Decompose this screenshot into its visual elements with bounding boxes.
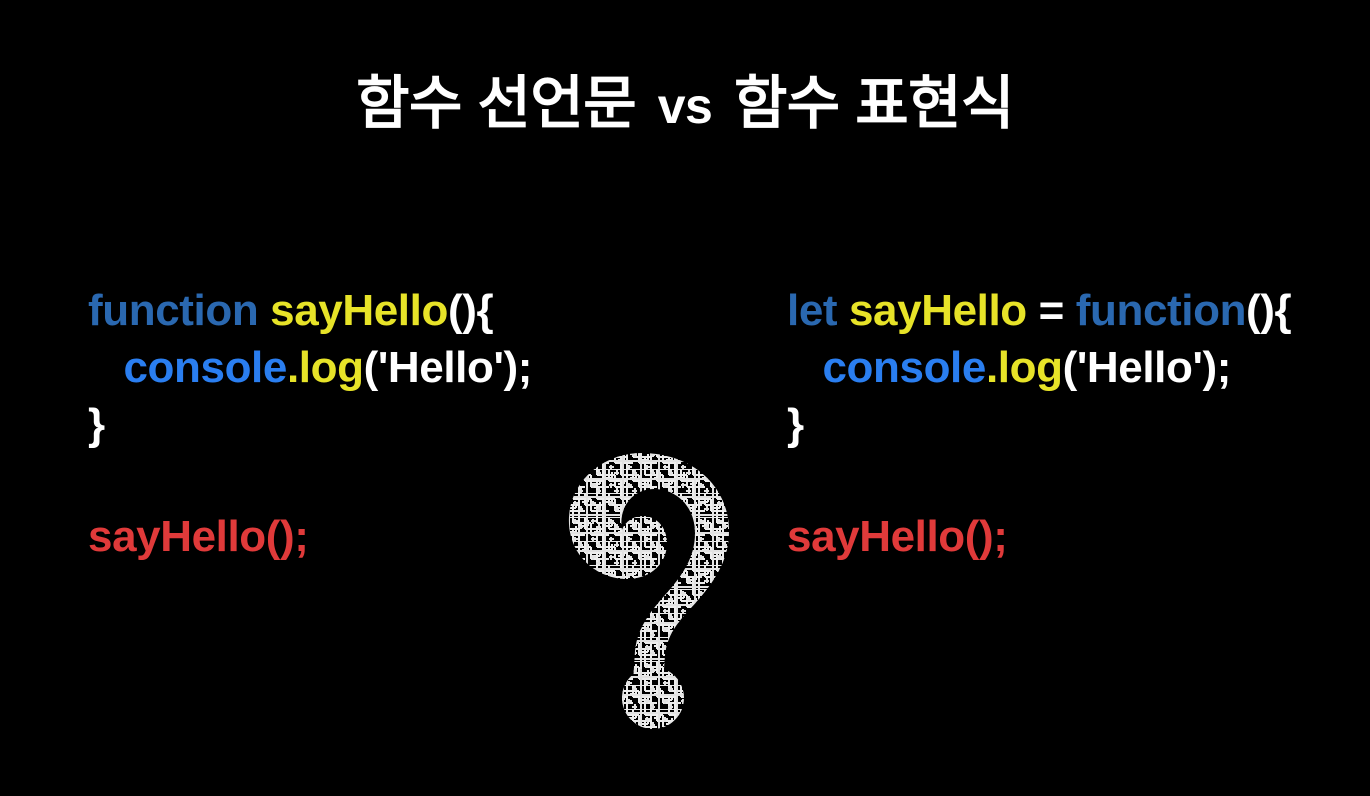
code-token-plain: ('Hello');: [1063, 343, 1231, 392]
page-title: 함수 선언문 vs 함수 표현식: [0, 74, 1370, 135]
code-line: let sayHello = function(){: [787, 282, 1291, 339]
code-token-keyword: let: [787, 286, 849, 335]
code-line: console.log('Hello');: [787, 339, 1291, 396]
code-token-keyword: function: [88, 286, 270, 335]
title-part-2: 함수 표현식: [734, 71, 1014, 136]
code-token-plain: (){: [1246, 286, 1291, 335]
code-line: sayHello();: [88, 508, 532, 565]
code-line: }: [787, 396, 1291, 453]
slide-canvas: 함수 선언문 vs 함수 표현식 function sayHello(){ co…: [0, 0, 1370, 796]
code-token-identifier: sayHello: [270, 286, 448, 335]
code-token-plain: ('Hello');: [364, 343, 532, 392]
code-line: }: [88, 396, 532, 453]
code-token-identifier: .log: [986, 343, 1063, 392]
code-token-identifier: sayHello: [849, 286, 1027, 335]
code-token-identifier: .log: [287, 343, 364, 392]
maze-question-mark-icon: [555, 445, 755, 745]
code-line: sayHello();: [787, 508, 1291, 565]
code-token-plain: }: [787, 400, 804, 449]
code-line-blank: [88, 453, 532, 508]
code-token-call: sayHello();: [787, 512, 1008, 561]
title-part-1: 함수 선언문: [356, 71, 636, 136]
code-token-plain: =: [1027, 286, 1076, 335]
code-token-plain: [787, 343, 822, 392]
code-line: console.log('Hello');: [88, 339, 532, 396]
code-line: function sayHello(){: [88, 282, 532, 339]
code-token-plain: (){: [448, 286, 493, 335]
code-token-keyword: function: [1076, 286, 1246, 335]
code-token-plain: }: [88, 400, 105, 449]
code-line-blank: [787, 453, 1291, 508]
code-block-function-declaration: function sayHello(){ console.log('Hello'…: [88, 282, 532, 565]
code-block-function-expression: let sayHello = function(){ console.log('…: [787, 282, 1291, 565]
code-token-plain: [88, 343, 123, 392]
code-token-call: sayHello();: [88, 512, 309, 561]
code-token-object: console: [822, 343, 985, 392]
code-token-object: console: [123, 343, 286, 392]
title-vs-label: vs: [652, 78, 719, 134]
